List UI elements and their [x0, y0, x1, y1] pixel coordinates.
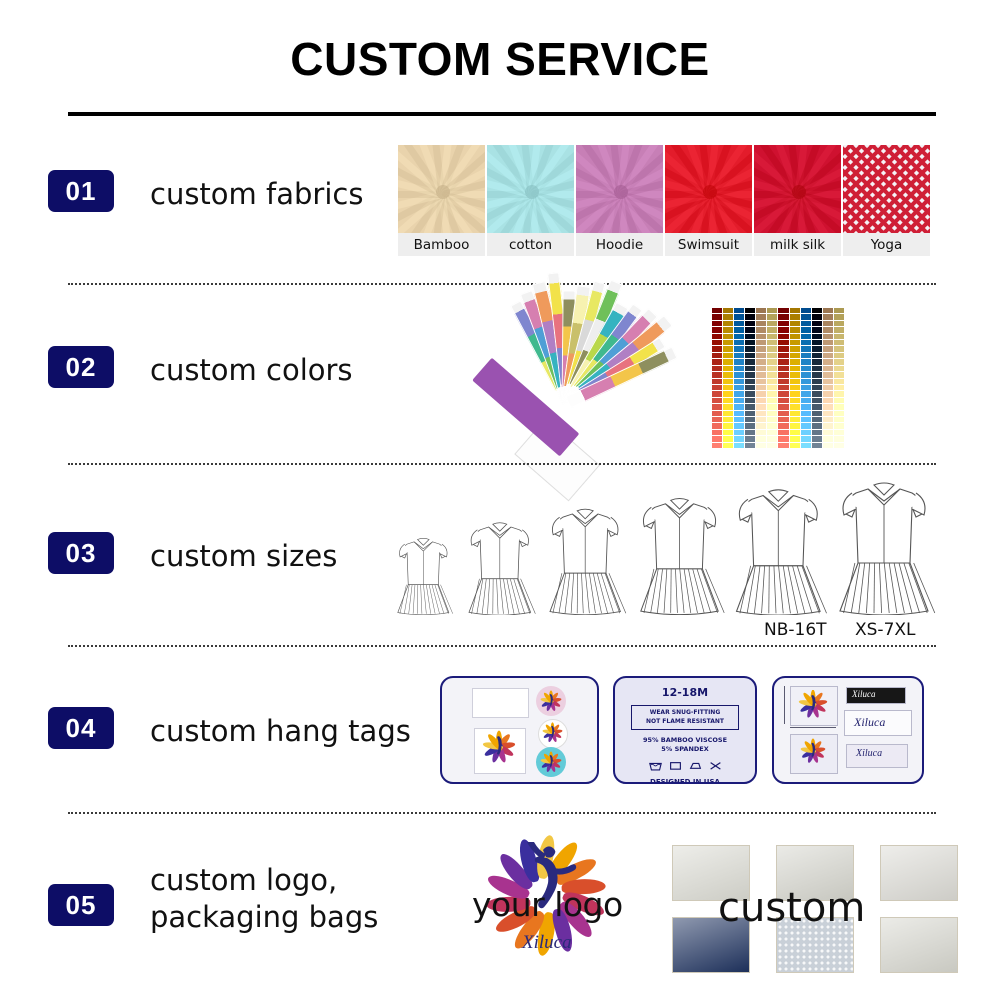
color-swatch-cell: [801, 385, 811, 390]
color-swatch-cell: [745, 398, 755, 403]
color-swatch-cell: [834, 321, 844, 326]
color-swatch-cell: [712, 334, 722, 339]
color-swatch-cell: [756, 417, 766, 422]
swatch-column: [823, 308, 833, 448]
fabric-swatch-label: milk silk: [754, 233, 841, 256]
color-swatch-cell: [778, 340, 788, 345]
color-swatch-cell: [823, 391, 833, 396]
color-swatch-cell: [756, 436, 766, 441]
color-swatch-cell: [823, 398, 833, 403]
color-swatch-cell: [812, 334, 822, 339]
color-swatch-cell: [801, 423, 811, 428]
fabric-lattice-texture: [843, 145, 930, 233]
color-swatch-cell: [778, 327, 788, 332]
color-swatch-cell: [712, 372, 722, 377]
color-swatch-cell: [790, 334, 800, 339]
color-swatch-cell: [734, 385, 744, 390]
fabric-drape-texture: [487, 145, 574, 233]
color-swatch-cell: [778, 398, 788, 403]
color-swatch-cell: [745, 334, 755, 339]
color-swatch-cell: [734, 327, 744, 332]
paper-tag-top: [472, 688, 529, 718]
color-swatch-cell: [712, 404, 722, 409]
color-swatch-cell: [745, 391, 755, 396]
color-swatch-cell: [756, 359, 766, 364]
color-swatch-cell: [790, 404, 800, 409]
color-swatch-cell: [723, 423, 733, 428]
color-swatch-cell: [778, 391, 788, 396]
fabric-swatch-image: [754, 145, 841, 233]
color-swatch-cell: [723, 398, 733, 403]
color-swatch-cell: [756, 321, 766, 326]
color-swatch-cell: [767, 334, 777, 339]
swatch-column: [745, 308, 755, 448]
color-swatch-cell: [745, 359, 755, 364]
color-swatch-cell: [745, 372, 755, 377]
color-swatch-cell: [801, 404, 811, 409]
row-badge-04: 04: [48, 707, 114, 749]
color-swatch-cell: [801, 436, 811, 441]
color-swatch-cell: [778, 430, 788, 435]
care-warning: WEAR SNUG-FITTING NOT FLAME RESISTANT: [632, 709, 738, 726]
color-swatch-cell: [734, 417, 744, 422]
color-swatch-cell: [723, 359, 733, 364]
color-swatch-cell: [778, 417, 788, 422]
fabric-swatch: milk silk: [754, 145, 841, 256]
color-swatch-cell: [778, 366, 788, 371]
color-swatch-cell: [801, 327, 811, 332]
color-swatch-cell: [778, 411, 788, 416]
color-swatch-cell: [834, 391, 844, 396]
color-swatch-cell: [767, 436, 777, 441]
care-composition: 95% BAMBOO VISCOSE 5% SPANDEX: [615, 736, 755, 754]
color-swatch-cell: [745, 353, 755, 358]
color-swatch-cell: [812, 372, 822, 377]
swatch-column: [767, 308, 777, 448]
color-swatch-cell: [801, 379, 811, 384]
color-swatch-cell: [812, 404, 822, 409]
fabric-drape-texture: [398, 145, 485, 233]
page-title: CUSTOM SERVICE: [0, 36, 1000, 82]
color-swatch-cell: [723, 379, 733, 384]
fabric-swatch: Hoodie: [576, 145, 663, 256]
brand-logo: your logo Xiluca: [466, 840, 626, 965]
color-swatch-cell: [745, 327, 755, 332]
color-swatch-cell: [723, 443, 733, 448]
color-swatch-cell: [812, 430, 822, 435]
color-swatch-cell: [734, 391, 744, 396]
row-badge-01: 01: [48, 170, 114, 212]
color-swatch-cell: [778, 346, 788, 351]
no-dryclean-icon: [709, 760, 722, 771]
dress-outline-icon: [462, 520, 538, 615]
color-swatch-cell: [801, 430, 811, 435]
swatch-column: [834, 308, 844, 448]
color-swatch-cell: [834, 436, 844, 441]
color-swatch-cell: [834, 372, 844, 377]
color-swatch-cell: [790, 411, 800, 416]
fabric-swatch-image: [665, 145, 752, 233]
fabric-swatch-label: Swimsuit: [665, 233, 752, 256]
color-swatch-cell: [767, 372, 777, 377]
size-label-nb16t: NB-16T: [764, 620, 827, 640]
logo-mark-icon: [800, 738, 826, 764]
color-swatch-cell: [823, 314, 833, 319]
color-swatch-cell: [712, 308, 722, 313]
color-swatch-cell: [756, 443, 766, 448]
color-swatch-cell: [790, 308, 800, 313]
color-swatch-cell: [734, 430, 744, 435]
color-swatch-cell: [745, 321, 755, 326]
color-swatch-cell: [790, 372, 800, 377]
dress-size-illustration: [462, 520, 538, 615]
color-swatch-cell: [712, 423, 722, 428]
color-swatch-cell: [767, 366, 777, 371]
color-swatch-cell: [823, 443, 833, 448]
color-swatch-cell: [723, 346, 733, 351]
custom-service-infographic: CUSTOM SERVICE 01 custom fabrics Bambooc…: [0, 0, 1000, 1000]
dress-size-illustration: [392, 536, 455, 615]
color-swatch-cell: [712, 346, 722, 351]
sticker-logo-mark: [542, 722, 563, 748]
fabric-swatch-label: Hoodie: [576, 233, 663, 256]
color-swatch-cell: [756, 334, 766, 339]
color-swatch-cell: [734, 423, 744, 428]
color-swatch-cell: [734, 379, 744, 384]
divider-2: [68, 463, 936, 465]
swatch-column: [723, 308, 733, 448]
color-swatch-cell: [812, 314, 822, 319]
logo-mark-icon: [482, 730, 516, 764]
color-swatch-cell: [767, 417, 777, 422]
swatch-column: [712, 308, 722, 448]
care-symbol-row: [615, 760, 755, 771]
color-swatch-cell: [834, 334, 844, 339]
color-swatch-cell: [812, 423, 822, 428]
color-swatch-cell: [767, 411, 777, 416]
color-swatch-cell: [812, 308, 822, 313]
color-swatch-cell: [756, 385, 766, 390]
color-swatch-cell: [790, 436, 800, 441]
care-origin: DESIGNED IN USA MADE IN CHINA: [615, 777, 755, 784]
color-swatch-cell: [834, 430, 844, 435]
color-swatch-cell: [823, 321, 833, 326]
color-swatch-cell: [823, 359, 833, 364]
color-swatch-cell: [756, 391, 766, 396]
color-swatch-cell: [790, 417, 800, 422]
care-size: 12-18M: [615, 686, 755, 699]
color-swatch-cell: [790, 353, 800, 358]
color-swatch-cell: [823, 353, 833, 358]
color-swatch-cell: [756, 423, 766, 428]
swatch-column: [801, 308, 811, 448]
color-swatch-cell: [812, 340, 822, 345]
woven-brand-black: Xiluca: [852, 689, 876, 699]
wash-icon: [649, 760, 662, 771]
size-label-xs7xl: XS-7XL: [855, 620, 916, 640]
dress-size-illustrations: [392, 475, 940, 615]
color-swatch-cell: [812, 321, 822, 326]
color-swatch-cell: [767, 391, 777, 396]
color-swatch-cell: [745, 443, 755, 448]
color-swatch-cell: [790, 385, 800, 390]
color-swatch-cell: [712, 314, 722, 319]
color-swatch-cell: [778, 379, 788, 384]
color-swatch-cell: [756, 411, 766, 416]
row-label-03: custom sizes: [150, 538, 337, 575]
hangtag-card-care-label: 12-18M WEAR SNUG-FITTING NOT FLAME RESIS…: [613, 676, 757, 784]
color-swatch-cell: [767, 359, 777, 364]
color-swatch-cell: [801, 314, 811, 319]
color-swatch-cell: [790, 430, 800, 435]
color-swatch-cell: [712, 321, 722, 326]
color-swatch-cell: [778, 314, 788, 319]
color-swatch-cell: [823, 346, 833, 351]
swatch-column: [734, 308, 744, 448]
color-swatch-cell: [834, 340, 844, 345]
color-swatch-cell: [756, 346, 766, 351]
fabric-swatch: Swimsuit: [665, 145, 752, 256]
color-swatch-cell: [823, 372, 833, 377]
packaging-bag: [880, 917, 958, 973]
swatch-column: [790, 308, 800, 448]
row-badge-02: 02: [48, 346, 114, 388]
dress-outline-icon: [830, 479, 938, 615]
color-swatch-cell: [712, 398, 722, 403]
color-swatch-cell: [801, 359, 811, 364]
color-swatch-cell: [790, 359, 800, 364]
packaging-caption: custom: [718, 885, 865, 931]
color-swatch-cell: [801, 366, 811, 371]
color-swatch-cell: [801, 340, 811, 345]
row-badge-05: 05: [48, 884, 114, 926]
color-swatch-cell: [767, 340, 777, 345]
color-swatch-cell: [812, 411, 822, 416]
color-swatch-cell: [734, 308, 744, 313]
color-swatch-cell: [778, 308, 788, 313]
color-swatch-cell: [823, 385, 833, 390]
color-swatch-cell: [723, 327, 733, 332]
color-swatch-cell: [823, 436, 833, 441]
color-swatch-cell: [790, 340, 800, 345]
swatch-column: [812, 308, 822, 448]
color-swatch-cell: [734, 404, 744, 409]
dimension-line-v: [784, 686, 785, 724]
color-swatch-cell: [734, 353, 744, 358]
color-swatch-cell: [723, 340, 733, 345]
row-badge-03: 03: [48, 532, 114, 574]
color-swatch-cell: [734, 366, 744, 371]
color-swatch-cell: [712, 327, 722, 332]
color-swatch-cell: [745, 430, 755, 435]
color-swatch-cell: [834, 314, 844, 319]
color-swatch-cell: [834, 417, 844, 422]
color-swatch-cell: [778, 385, 788, 390]
color-swatch-cell: [812, 436, 822, 441]
color-swatch-cell: [812, 391, 822, 396]
logo-mark-icon: [798, 690, 828, 718]
color-swatch-cell: [723, 314, 733, 319]
color-swatch-cell: [734, 346, 744, 351]
color-swatch-cell: [801, 334, 811, 339]
color-swatch-cell: [756, 327, 766, 332]
color-swatch-cell: [834, 398, 844, 403]
swatch-column: [778, 308, 788, 448]
color-swatch-cell: [745, 411, 755, 416]
sticker-logo-mark: [540, 690, 562, 717]
color-swatch-cell: [834, 411, 844, 416]
color-swatch-cell: [823, 423, 833, 428]
color-swatch-cell: [801, 353, 811, 358]
fabric-swatch: cotton: [487, 145, 574, 256]
color-swatch-cell: [756, 379, 766, 384]
color-swatch-cell: [812, 346, 822, 351]
color-swatch-cell: [812, 327, 822, 332]
color-swatch-cell: [823, 379, 833, 384]
color-swatch-cell: [745, 346, 755, 351]
color-swatch-cell: [801, 372, 811, 377]
color-swatch-cell: [745, 340, 755, 345]
color-swatch-cell: [812, 366, 822, 371]
color-swatch-cell: [834, 404, 844, 409]
color-swatch-cell: [723, 334, 733, 339]
your-logo-text: your logo: [472, 885, 623, 924]
color-swatch-cell: [834, 366, 844, 371]
fabric-swatch-image: [487, 145, 574, 233]
color-swatch-cell: [834, 359, 844, 364]
dimension-line-h: [790, 727, 836, 728]
color-swatch-cell: [823, 327, 833, 332]
color-swatch-cell: [734, 443, 744, 448]
row-label-02: custom colors: [150, 352, 353, 389]
color-swatch-cell: [778, 404, 788, 409]
color-swatch-cell: [723, 411, 733, 416]
color-swatch-cell: [834, 327, 844, 332]
color-swatch-cell: [712, 366, 722, 371]
color-swatch-cell: [823, 404, 833, 409]
color-swatch-cell: [712, 391, 722, 396]
color-swatch-cell: [823, 366, 833, 371]
color-swatch-cell: [745, 308, 755, 313]
dress-outline-icon: [392, 536, 455, 615]
divider-3: [68, 645, 936, 647]
color-swatch-cell: [801, 411, 811, 416]
color-swatch-cell: [723, 385, 733, 390]
woven-logo-mark: [798, 690, 828, 723]
color-swatch-cell: [778, 334, 788, 339]
hangtag-card-logo-tags: [440, 676, 599, 784]
color-swatch-cell: [812, 398, 822, 403]
logo-mark-icon: [540, 690, 562, 712]
dress-size-illustration: [830, 479, 938, 615]
color-swatch-cell: [834, 353, 844, 358]
color-swatch-cell: [745, 423, 755, 428]
color-swatch-cell: [823, 430, 833, 435]
color-swatch-cell: [712, 353, 722, 358]
row-label-01: custom fabrics: [150, 176, 363, 213]
fabric-drape-texture: [665, 145, 752, 233]
color-swatch-cell: [823, 340, 833, 345]
fabric-drape-texture: [576, 145, 663, 233]
care-warning-box: WEAR SNUG-FITTING NOT FLAME RESISTANT: [631, 705, 739, 730]
color-swatch-cell: [778, 436, 788, 441]
color-swatch-cell: [734, 411, 744, 416]
color-swatch-cell: [767, 308, 777, 313]
divider-1: [68, 283, 936, 285]
color-swatch-cell: [712, 417, 722, 422]
color-swatch-cell: [790, 366, 800, 371]
dress-size-illustration: [542, 506, 628, 615]
bleach-icon: [669, 760, 682, 771]
color-swatch-cell: [734, 359, 744, 364]
title-underline: [68, 112, 936, 116]
color-swatch-cell: [767, 321, 777, 326]
fabric-swatch-image: [576, 145, 663, 233]
fabric-drape-texture: [754, 145, 841, 233]
color-swatch-cell: [723, 308, 733, 313]
color-swatch-cell: [734, 340, 744, 345]
color-swatch-cell: [745, 385, 755, 390]
color-swatch-cell: [723, 321, 733, 326]
color-swatch-cell: [767, 398, 777, 403]
color-swatch-cell: [767, 430, 777, 435]
color-swatch-cell: [823, 417, 833, 422]
color-swatch-grid: [712, 308, 844, 448]
logo-mark-icon: [540, 751, 562, 773]
woven-brand-small: Xiluca: [856, 748, 882, 759]
woven-brand-large: Xiluca: [854, 715, 885, 730]
woven-logo-mark: [800, 738, 826, 769]
color-swatch-cell: [767, 314, 777, 319]
dress-size-illustration: [632, 495, 727, 615]
color-swatch-cell: [712, 385, 722, 390]
color-swatch-cell: [790, 423, 800, 428]
color-swatch-cell: [778, 321, 788, 326]
fabric-swatch-list: BamboocottonHoodieSwimsuitmilk silkYoga: [398, 145, 930, 256]
color-swatch-cell: [723, 436, 733, 441]
color-swatch-cell: [712, 359, 722, 364]
iron-icon: [689, 760, 702, 771]
color-swatch-cell: [767, 443, 777, 448]
color-swatch-cell: [790, 346, 800, 351]
color-swatch-cell: [745, 366, 755, 371]
color-swatch-cell: [756, 404, 766, 409]
color-swatch-cell: [734, 372, 744, 377]
row-label-05-line1: custom logo,: [150, 862, 337, 899]
color-swatch-cell: [756, 340, 766, 345]
color-swatch-cell: [734, 398, 744, 403]
color-swatch-cell: [834, 346, 844, 351]
color-swatch-cell: [712, 436, 722, 441]
color-swatch-cell: [712, 379, 722, 384]
color-swatch-cell: [834, 423, 844, 428]
fabric-swatch-label: Yoga: [843, 233, 930, 256]
color-swatch-cell: [756, 398, 766, 403]
color-swatch-cell: [778, 359, 788, 364]
divider-4: [68, 812, 936, 814]
dress-outline-icon: [542, 506, 628, 615]
color-swatch-cell: [712, 411, 722, 416]
hangtag-card-woven-labels: XilucaXilucaXiluca: [772, 676, 924, 784]
color-swatch-cell: [778, 353, 788, 358]
color-swatch-cell: [801, 321, 811, 326]
color-swatch-cell: [723, 353, 733, 358]
fabric-swatch: Yoga: [843, 145, 930, 256]
color-swatch-cell: [790, 321, 800, 326]
color-swatch-cell: [834, 308, 844, 313]
color-swatch-cell: [834, 379, 844, 384]
color-swatch-cell: [723, 391, 733, 396]
